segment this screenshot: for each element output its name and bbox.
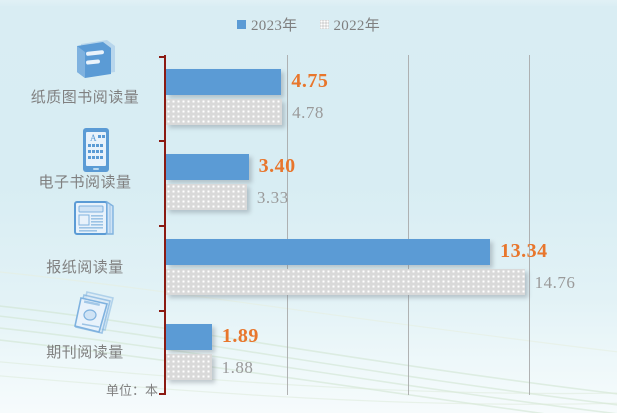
newspaper-icon — [60, 196, 130, 245]
legend-label-2022: 2022年 — [334, 14, 381, 35]
legend-swatch-2022-icon — [320, 20, 329, 29]
value-label-2023-periodicals: 1.89 — [222, 325, 259, 348]
value-label-2023-paper-books: 4.75 — [291, 70, 328, 93]
gridline-5 — [287, 55, 288, 395]
bar-2023-ebooks[interactable] — [166, 154, 249, 180]
axis-tick-0 — [159, 56, 166, 58]
axis-tick-2 — [159, 225, 166, 227]
bar-2022-periodicals[interactable] — [166, 354, 212, 380]
value-label-2022-paper-books: 4.78 — [292, 103, 324, 123]
unit-note: 单位：本 — [62, 380, 202, 399]
value-label-2023-ebooks: 3.40 — [259, 155, 296, 178]
bar-2022-ebooks[interactable] — [166, 184, 247, 210]
chart-canvas: 2023年 2022年 纸质 — [0, 0, 617, 413]
gridline-15 — [529, 55, 530, 395]
category-label-periodicals: 期刊阅读量 — [10, 341, 160, 362]
chart-legend: 2023年 2022年 — [0, 14, 617, 35]
value-label-2022-ebooks: 3.33 — [257, 188, 289, 208]
legend-item-2022[interactable]: 2022年 — [320, 14, 381, 35]
value-label-2022-newspapers: 14.76 — [535, 273, 576, 293]
legend-label-2023: 2023年 — [251, 14, 298, 35]
legend-swatch-2023-icon — [237, 20, 246, 29]
bar-2023-paper-books[interactable] — [166, 69, 281, 95]
bar-2023-periodicals[interactable] — [166, 324, 212, 350]
bar-2022-paper-books[interactable] — [166, 99, 282, 125]
value-label-2022-periodicals: 1.88 — [222, 358, 254, 378]
gridline-10 — [408, 55, 409, 395]
axis-tick-1 — [159, 140, 166, 142]
bar-2022-newspapers[interactable] — [166, 269, 525, 295]
category-label-ebooks: 电子书阅读量 — [10, 171, 160, 192]
book-icon — [60, 38, 130, 85]
value-label-2023-newspapers: 13.34 — [500, 240, 548, 263]
magazine-stack-icon — [60, 288, 130, 341]
axis-tick-3 — [159, 310, 166, 312]
svg-text:A: A — [90, 133, 97, 143]
top-highlight-band — [0, 0, 617, 6]
category-label-newspapers: 报纸阅读量 — [10, 256, 160, 277]
bar-2023-newspapers[interactable] — [166, 239, 490, 265]
legend-item-2023[interactable]: 2023年 — [237, 14, 298, 35]
category-label-paper-books: 纸质图书阅读量 — [10, 86, 160, 107]
